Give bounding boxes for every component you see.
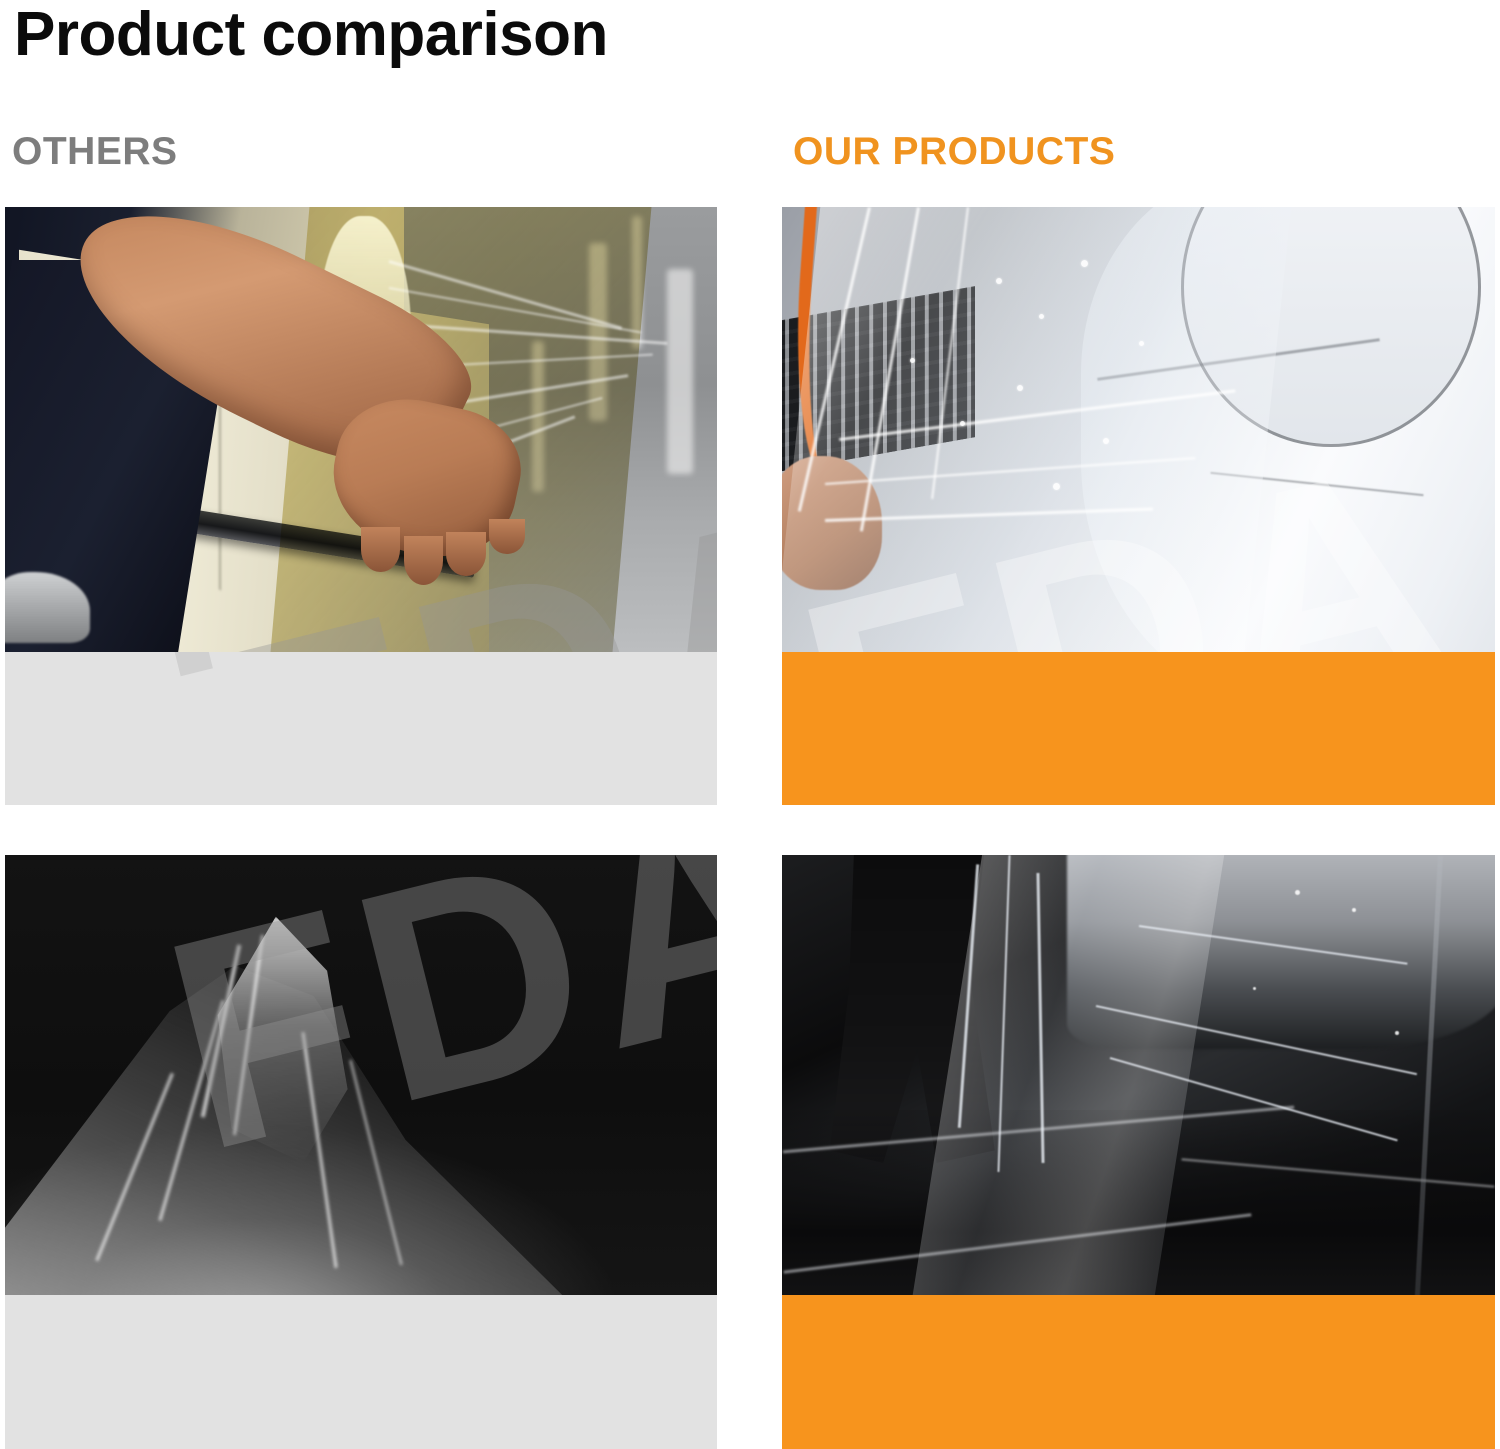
comparison-card-others-yellowing: FDA UN FDA UN Soon after the film is app…	[5, 207, 717, 805]
water-droplet	[960, 421, 965, 426]
finger	[404, 536, 443, 585]
water-droplet	[1139, 341, 1144, 346]
column-header-our-products: OUR PRODUCTS	[793, 132, 1115, 171]
page-title: Product comparison	[14, 2, 608, 67]
caption-others-scratching: Slight collision and scratching will pen…	[5, 1295, 717, 1449]
photo-yellowed-film-peel: FDA UN	[5, 207, 717, 652]
product-comparison-page: Product comparison OTHERS OUR PRODUCTS	[0, 0, 1500, 1449]
caption-others-yellowing: FDA UN Soon after the film is applied, i…	[5, 652, 717, 805]
finger	[489, 519, 525, 555]
comparison-card-ours-durable: FDA UN FDA UN Durable, still bright and …	[782, 207, 1495, 805]
wall-highlight	[667, 269, 693, 474]
water-droplet	[1039, 314, 1044, 319]
photo-clear-film-black-car	[782, 855, 1495, 1295]
finger	[446, 532, 485, 577]
water-droplet	[1053, 483, 1060, 490]
photo-film-dark-studio: FDA UN	[5, 855, 717, 1295]
column-header-others: OTHERS	[12, 132, 178, 171]
comparison-card-others-scratching: FDA UN Slight collision and scratching w…	[5, 855, 717, 1449]
finger	[361, 527, 400, 572]
watermark: FDA UN	[119, 652, 717, 715]
clear-protective-film	[782, 207, 1294, 652]
caption-ours-protects: In the event of collisions and scratches…	[782, 1295, 1495, 1449]
photo-clear-film-white-car: FDA UN	[782, 207, 1495, 652]
comparison-card-ours-protects: In the event of collisions and scratches…	[782, 855, 1495, 1449]
highlight-speck	[1253, 987, 1256, 990]
watermark: FDA UN	[782, 652, 1495, 674]
caption-ours-durable: FDA UN Durable, still bright and transpa…	[782, 652, 1495, 805]
